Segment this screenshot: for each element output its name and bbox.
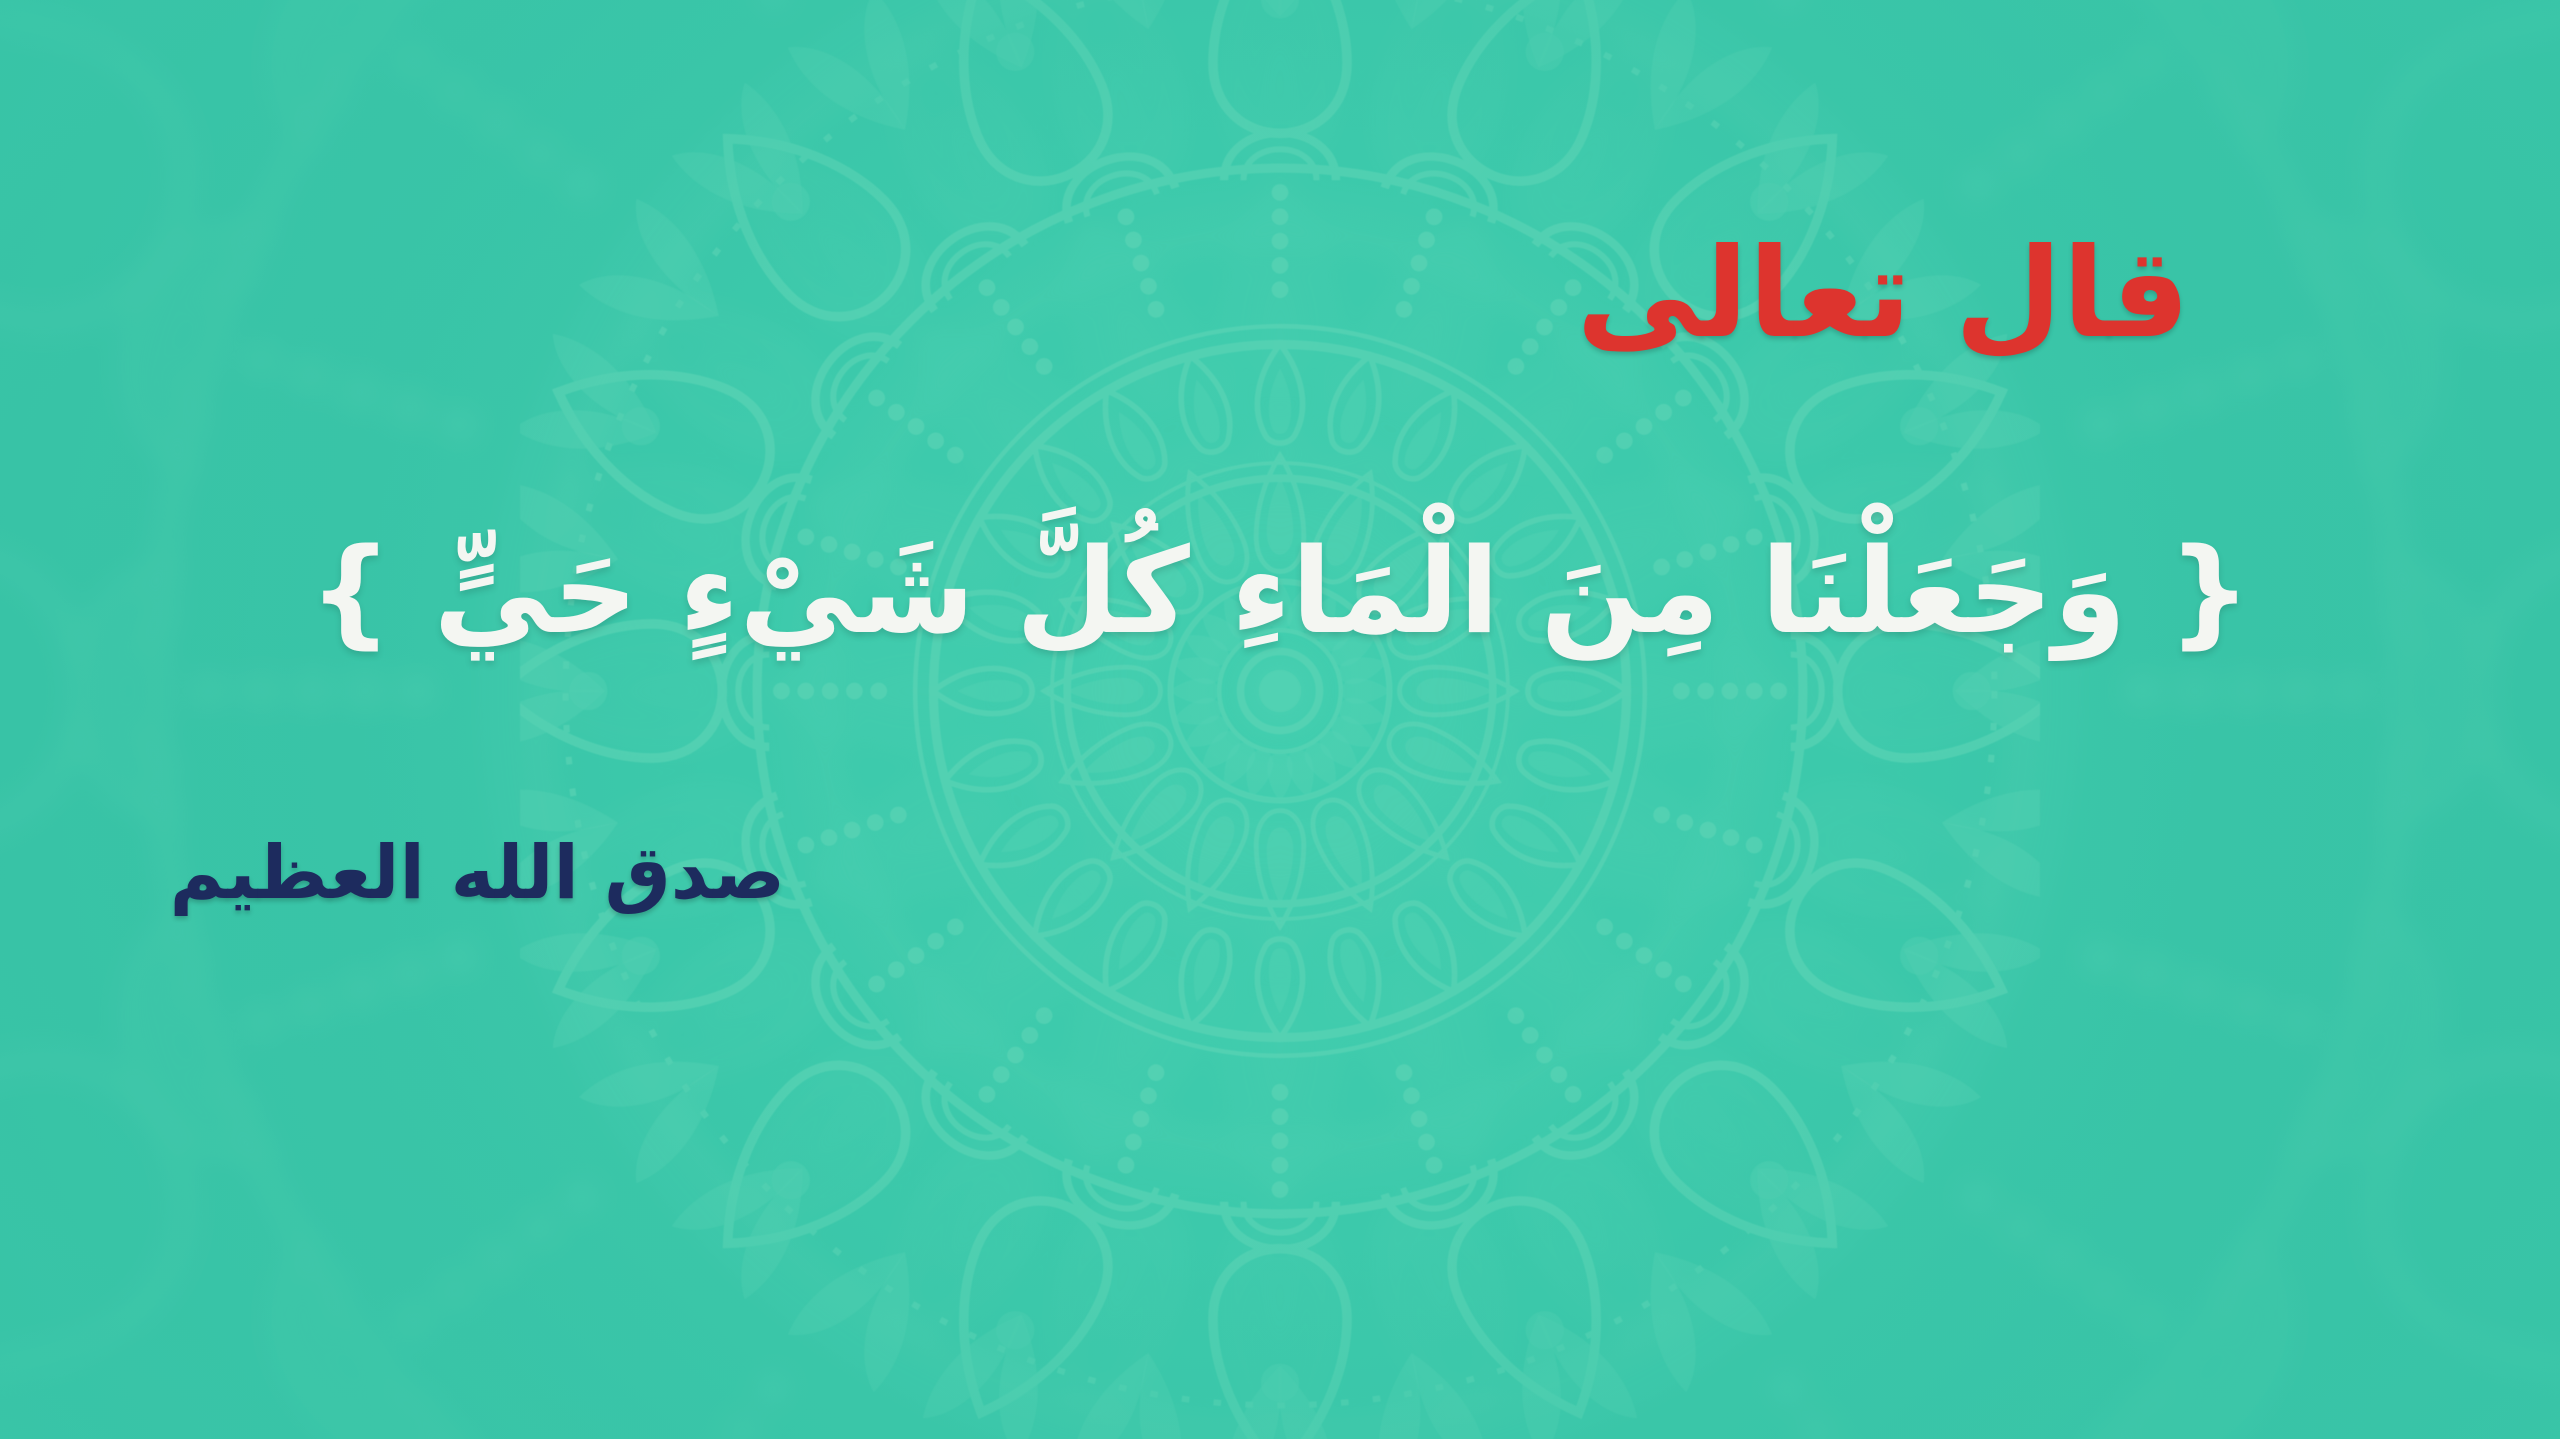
- verse-closing-phrase: صدق الله العظيم: [170, 836, 785, 910]
- quran-verse-text: { وَجَعَلْنَا مِنَ الْمَاءِ كُلَّ شَيْءٍ…: [270, 500, 2290, 683]
- slide-content: قال تعالى { وَجَعَلْنَا مِنَ الْمَاءِ كُ…: [0, 0, 2560, 1439]
- slide-canvas: قال تعالى { وَجَعَلْنَا مِنَ الْمَاءِ كُ…: [0, 0, 2560, 1439]
- verse-intro-heading: قال تعالى: [1576, 232, 2190, 356]
